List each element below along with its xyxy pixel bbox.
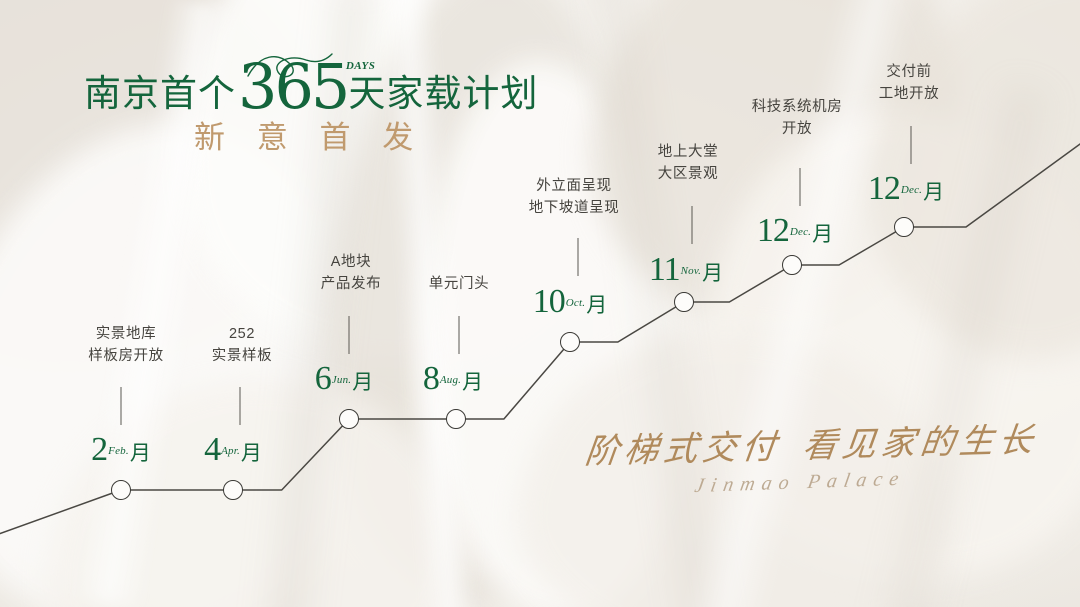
slogan-block: 阶梯式交付看见家的生长 Jinmao Palace [585, 436, 1036, 496]
timeline-caption-7: 科技系统机房开放 [752, 97, 843, 141]
timeline: 2Feb.月实景地库样板房开放4Apr.月252实景样板6Jun.月A地块产品发… [0, 0, 1080, 607]
caption-line: 实景地库 [88, 324, 164, 346]
timeline-caption-5: 外立面呈现地下坡道呈现 [529, 176, 620, 220]
caption-line: 地下坡道呈现 [529, 198, 620, 220]
slogan-signature: Jinmao Palace [693, 464, 1037, 496]
month-english: Aug. [440, 374, 461, 386]
caption-line: 样板房开放 [88, 346, 164, 368]
timeline-caption-3: A地块产品发布 [321, 252, 381, 296]
timeline-month-label-3: 6Jun.月 [315, 362, 373, 396]
timeline-caption-2: 252实景样板 [212, 324, 272, 368]
caption-line: 科技系统机房 [752, 97, 843, 119]
caption-line: 大区景观 [658, 164, 718, 186]
timeline-node-2[interactable] [223, 480, 243, 500]
timeline-month-label-1: 2Feb.月 [91, 433, 151, 467]
timeline-tick-8 [911, 126, 912, 164]
month-unit: 月 [702, 261, 723, 285]
month-number: 11 [649, 251, 680, 288]
month-number: 12 [868, 170, 900, 207]
month-english: Feb. [108, 445, 129, 457]
month-english: Dec. [790, 226, 811, 238]
month-number: 12 [757, 212, 789, 249]
month-english: Nov. [681, 265, 701, 277]
timeline-node-5[interactable] [560, 332, 580, 352]
timeline-tick-3 [349, 316, 350, 354]
timeline-month-label-4: 8Aug.月 [423, 362, 483, 396]
caption-line: 实景样板 [212, 346, 272, 368]
timeline-month-label-7: 12Dec.月 [757, 214, 833, 248]
month-unit: 月 [352, 370, 373, 394]
timeline-month-label-2: 4Apr.月 [204, 433, 262, 467]
month-unit: 月 [586, 293, 607, 317]
caption-line: A地块 [321, 252, 381, 274]
timeline-tick-2 [240, 387, 241, 425]
month-number: 6 [315, 360, 331, 397]
month-unit: 月 [241, 441, 262, 465]
timeline-node-1[interactable] [111, 480, 131, 500]
timeline-caption-4: 单元门头 [429, 274, 489, 296]
month-unit: 月 [462, 370, 483, 394]
timeline-tick-5 [578, 238, 579, 276]
month-english: Jun. [332, 374, 351, 386]
timeline-caption-6: 地上大堂大区景观 [658, 142, 718, 186]
caption-line: 252 [212, 324, 272, 346]
slogan-spacer [780, 457, 802, 458]
month-number: 2 [91, 431, 107, 468]
month-english: Apr. [221, 445, 240, 457]
timeline-node-7[interactable] [782, 255, 802, 275]
month-english: Dec. [901, 184, 922, 196]
caption-line: 开放 [752, 119, 843, 141]
month-unit: 月 [130, 441, 151, 465]
month-number: 8 [423, 360, 439, 397]
caption-line: 交付前 [879, 62, 939, 84]
timeline-tick-1 [121, 387, 122, 425]
timeline-tick-4 [459, 316, 460, 354]
slogan-text-right: 看见家的生长 [801, 422, 1040, 465]
month-number: 4 [204, 431, 220, 468]
caption-line: 产品发布 [321, 274, 381, 296]
caption-line: 工地开放 [879, 84, 939, 106]
slogan-text-left: 阶梯式交付 [583, 429, 783, 471]
month-english: Oct. [566, 297, 585, 309]
month-unit: 月 [812, 222, 833, 246]
timeline-node-6[interactable] [674, 292, 694, 312]
timeline-tick-7 [800, 168, 801, 206]
caption-line: 单元门头 [429, 274, 489, 296]
month-unit: 月 [923, 180, 944, 204]
timeline-tick-6 [692, 206, 693, 244]
caption-line: 外立面呈现 [529, 176, 620, 198]
timeline-caption-1: 实景地库样板房开放 [88, 324, 164, 368]
timeline-month-label-5: 10Oct.月 [533, 285, 607, 319]
timeline-node-4[interactable] [446, 409, 466, 429]
caption-line: 地上大堂 [658, 142, 718, 164]
poster-canvas: 南京首个 365 DAYS 天家载计划 新 意 首 发 2Feb.月实景地库样板… [0, 0, 1080, 607]
timeline-month-label-8: 12Dec.月 [868, 172, 944, 206]
timeline-node-3[interactable] [339, 409, 359, 429]
timeline-month-label-6: 11Nov.月 [649, 253, 723, 287]
timeline-node-8[interactable] [894, 217, 914, 237]
month-number: 10 [533, 283, 565, 320]
timeline-caption-8: 交付前工地开放 [879, 62, 939, 106]
